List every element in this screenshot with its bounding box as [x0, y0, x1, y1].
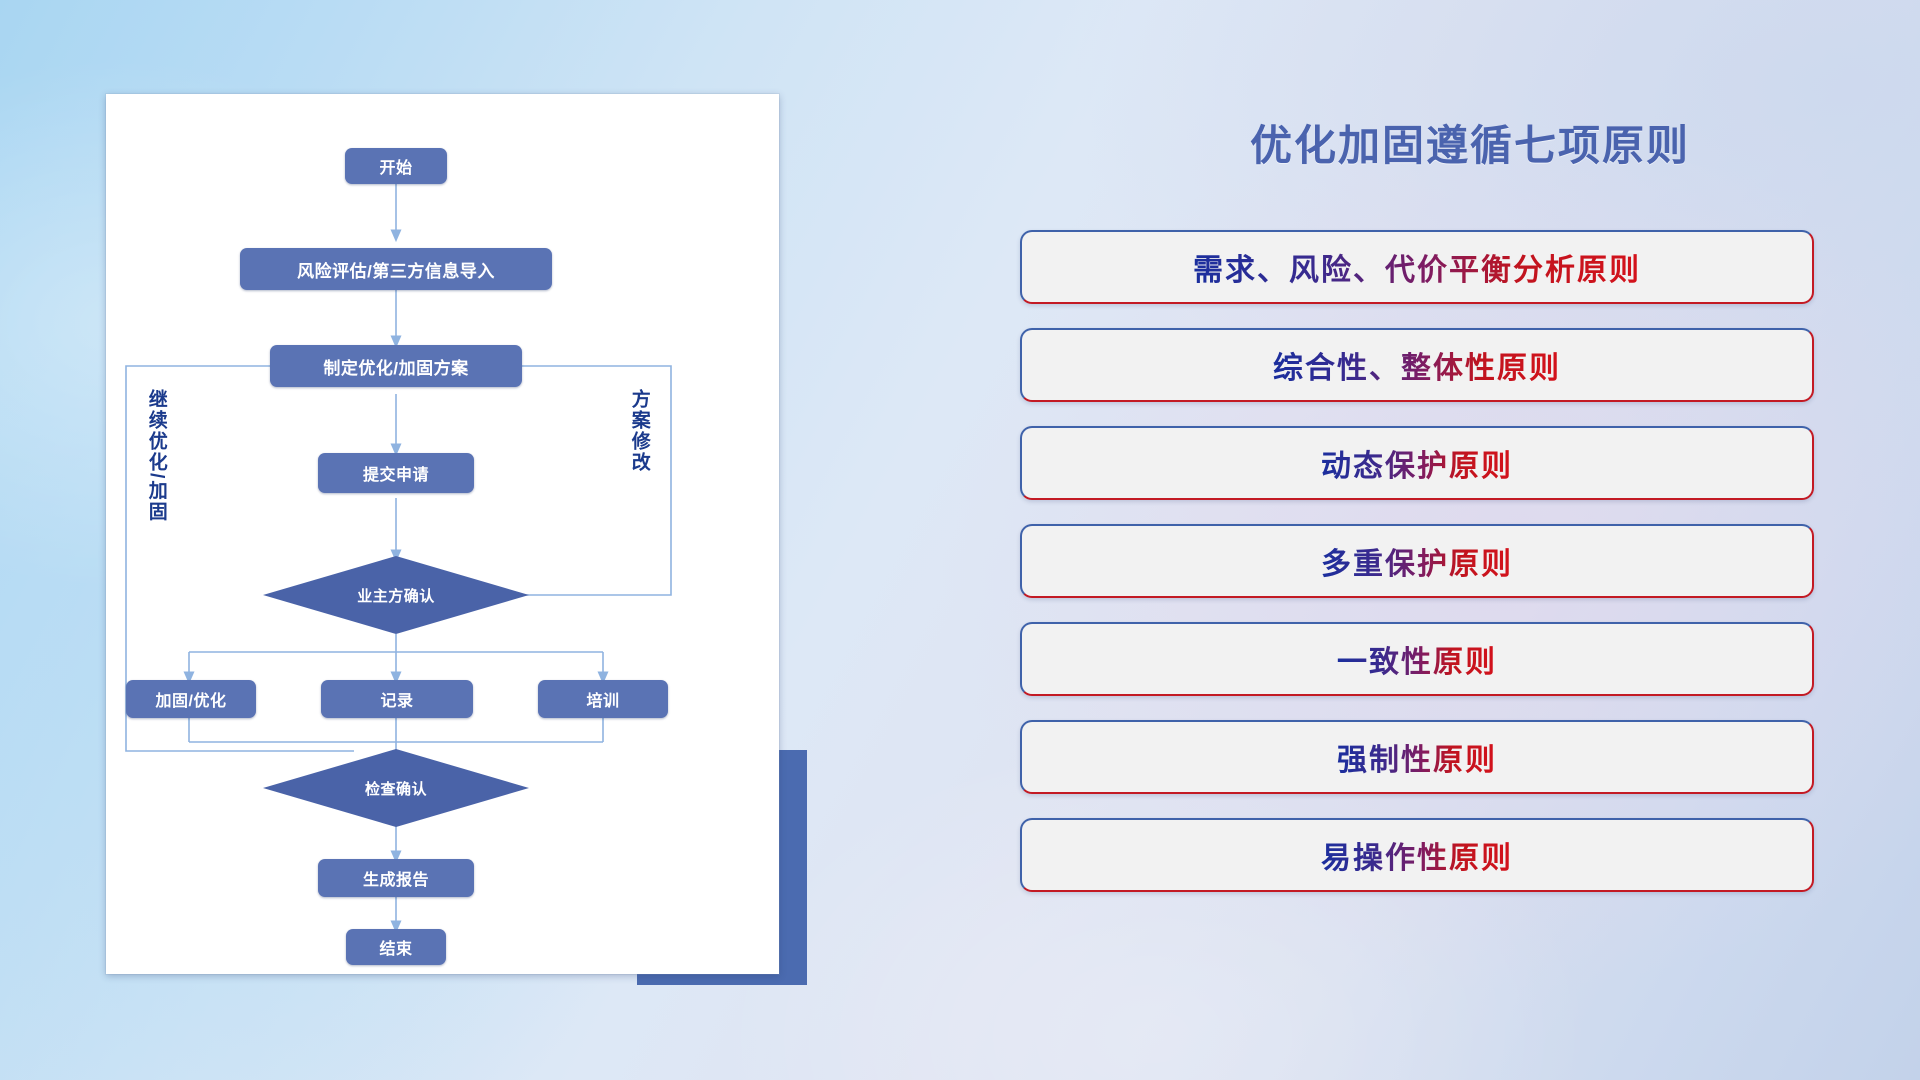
principles-list: 需求、风险、代价平衡分析原则 综合性、整体性原则 动态保护原则 多重保护原则 一… [1020, 230, 1920, 916]
principle-item[interactable]: 一致性原则 [1020, 622, 1814, 696]
node-inspect-confirm-label: 检查确认 [263, 749, 529, 827]
node-risk-assessment-label: 风险评估/第三方信息导入 [297, 257, 495, 282]
node-inspect-confirm[interactable]: 检查确认 [263, 749, 529, 827]
panel-title: 优化加固遵循七项原则 [1150, 112, 1790, 173]
edge-label-right-loop: 方案修改 [629, 389, 649, 473]
node-make-plan[interactable]: 制定优化/加固方案 [270, 345, 522, 387]
node-make-plan-label: 制定优化/加固方案 [323, 354, 468, 379]
node-reinforce[interactable]: 加固/优化 [126, 680, 256, 718]
principle-item[interactable]: 易操作性原则 [1020, 818, 1814, 892]
principles-panel: 优化加固遵循七项原则 需求、风险、代价平衡分析原则 综合性、整体性原则 动态保护… [1020, 0, 1920, 1080]
flowchart-connectors [106, 94, 779, 974]
node-start[interactable]: 开始 [345, 148, 447, 184]
principle-item[interactable]: 动态保护原则 [1020, 426, 1814, 500]
node-generate-report-label: 生成报告 [363, 866, 429, 890]
edge-label-left-loop: 继续优化/加固 [146, 389, 166, 522]
principle-label: 强制性原则 [1337, 735, 1497, 779]
principle-item[interactable]: 强制性原则 [1020, 720, 1814, 794]
node-owner-confirm-label: 业主方确认 [263, 556, 529, 634]
principle-label: 多重保护原则 [1321, 539, 1513, 583]
node-start-label: 开始 [379, 154, 412, 178]
principle-label: 易操作性原则 [1321, 833, 1513, 877]
principle-label: 一致性原则 [1337, 637, 1497, 681]
node-risk-assessment[interactable]: 风险评估/第三方信息导入 [240, 248, 552, 290]
principle-label: 需求、风险、代价平衡分析原则 [1193, 245, 1641, 289]
node-end-label: 结束 [379, 935, 412, 959]
node-submit-application-label: 提交申请 [363, 461, 429, 485]
node-training-label: 培训 [586, 687, 619, 711]
node-record-label: 记录 [380, 687, 413, 711]
principle-item[interactable]: 需求、风险、代价平衡分析原则 [1020, 230, 1814, 304]
node-record[interactable]: 记录 [321, 680, 473, 718]
principle-item[interactable]: 综合性、整体性原则 [1020, 328, 1814, 402]
principle-item[interactable]: 多重保护原则 [1020, 524, 1814, 598]
node-owner-confirm[interactable]: 业主方确认 [263, 556, 529, 634]
node-submit-application[interactable]: 提交申请 [318, 453, 474, 493]
node-training[interactable]: 培训 [538, 680, 668, 718]
principle-label: 综合性、整体性原则 [1273, 343, 1561, 387]
node-end[interactable]: 结束 [346, 929, 446, 965]
node-generate-report[interactable]: 生成报告 [318, 859, 474, 897]
flowchart-card: 开始 风险评估/第三方信息导入 制定优化/加固方案 提交申请 业主方确认 加固/… [106, 94, 779, 974]
principle-label: 动态保护原则 [1321, 441, 1513, 485]
node-reinforce-label: 加固/优化 [156, 687, 227, 711]
